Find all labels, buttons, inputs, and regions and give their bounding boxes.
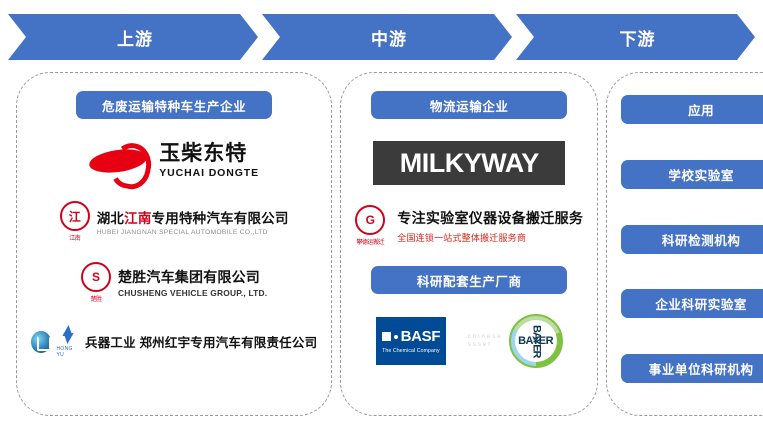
moving-service-emblem-icon: G bbox=[355, 205, 385, 235]
chusheng-emblem-icon: S bbox=[81, 262, 111, 292]
banner-segment-downstream[interactable]: 下游 bbox=[516, 14, 755, 60]
yuchai-name-cn: 玉柴东特 bbox=[159, 143, 259, 165]
hongyu-globe-icon bbox=[31, 331, 51, 353]
panels-container: 危废运输特种车生产企业 玉柴东特 YUCHAI DONGTE 江 江南 湖北江南… bbox=[16, 72, 747, 416]
logo-chusheng: S 楚胜 楚胜汽车集团有限公司 CHUSHENG VEHICLE GROUP.,… bbox=[81, 262, 267, 303]
value-chain-banner: 上游 中游 下游 bbox=[8, 14, 755, 60]
manufacturer-logos-row: BASF The Chemical Company chinese ssset … bbox=[376, 314, 563, 368]
basf-square-icon bbox=[382, 332, 391, 341]
bayer-wordmark-vertical: BAYER bbox=[531, 325, 540, 358]
banner-segment-upstream[interactable]: 上游 bbox=[8, 14, 258, 60]
banner-label-upstream: 上游 bbox=[117, 25, 153, 50]
pill-enterprise-research-laboratory[interactable]: 企业科研实验室 bbox=[621, 289, 763, 318]
bayer-cross-icon: BAYER BAYER bbox=[509, 314, 563, 368]
jiangnan-name-en: HUBEI JIANGNAN SPECIAL AUTOMOBILE CO.,LT… bbox=[97, 229, 289, 236]
pill-public-institution-research-organization[interactable]: 事业单位科研机构 bbox=[621, 354, 763, 383]
logo-bayer: chinese ssset BAYER BAYER bbox=[468, 314, 563, 368]
basf-wordmark: BASF bbox=[401, 328, 441, 345]
pill-research-testing-institution[interactable]: 科研检测机构 bbox=[621, 225, 763, 254]
panel-upstream: 危废运输特种车生产企业 玉柴东特 YUCHAI DONGTE 江 江南 湖北江南… bbox=[16, 72, 332, 416]
chusheng-name-cn: 楚胜汽车集团有限公司 bbox=[118, 267, 267, 287]
jiangnan-emblem-icon: 江 bbox=[60, 201, 90, 231]
yuchai-swirl-icon bbox=[89, 141, 151, 181]
pill-application[interactable]: 应用 bbox=[621, 95, 763, 124]
panel-downstream: 应用 学校实验室 科研检测机构 企业科研实验室 事业单位科研机构 bbox=[606, 72, 763, 416]
logo-yuchai-dongte: 玉柴东特 YUCHAI DONGTE bbox=[89, 141, 259, 181]
pill-logistics-companies[interactable]: 物流运输企业 bbox=[371, 91, 567, 119]
logo-lab-moving-service: G 攀德运搬迁 专注实验室仪器设备搬迁服务 全国连锁一站式整体搬迁服务商 bbox=[355, 205, 583, 246]
bayer-ghost-line-1: chinese bbox=[468, 334, 503, 340]
basf-dot-icon bbox=[394, 335, 398, 339]
yuchai-name-en: YUCHAI DONGTE bbox=[159, 167, 259, 179]
jiangnan-name-cn: 湖北江南专用特种汽车有限公司 bbox=[97, 207, 289, 227]
banner-label-midstream: 中游 bbox=[371, 25, 407, 50]
downstream-pill-stack: 应用 学校实验室 科研检测机构 企业科研实验室 事业单位科研机构 bbox=[621, 91, 763, 405]
banner-label-downstream: 下游 bbox=[620, 25, 656, 50]
basf-tagline: The Chemical Company bbox=[382, 348, 440, 354]
hongyu-bolt-icon bbox=[58, 325, 78, 345]
moving-service-subtitle: 全国连锁一站式整体搬迁服务商 bbox=[397, 231, 583, 244]
milkyway-wordmark: MILKYWAY bbox=[400, 148, 539, 179]
pill-research-supply-manufacturers[interactable]: 科研配套生产厂商 bbox=[371, 266, 567, 294]
hongyu-mark-caption: HONG YU bbox=[57, 346, 79, 358]
logo-hubei-jiangnan: 江 江南 湖北江南专用特种汽车有限公司 HUBEI JIANGNAN SPECI… bbox=[60, 201, 289, 242]
pill-hazardous-waste-vehicle-makers[interactable]: 危废运输特种车生产企业 bbox=[76, 91, 272, 119]
bayer-ghost-text: chinese ssset bbox=[468, 334, 503, 348]
logo-zhengzhou-hongyu: HONG YU 兵器工业 郑州红宇专用汽车有限责任公司 bbox=[31, 325, 317, 358]
moving-service-emblem-caption: 攀德运搬迁 bbox=[357, 237, 385, 246]
panel-midstream: 物流运输企业 MILKYWAY G 攀德运搬迁 专注实验室仪器设备搬迁服务 全国… bbox=[340, 72, 598, 416]
logo-basf: BASF The Chemical Company bbox=[376, 317, 446, 365]
bayer-ghost-line-2: ssset bbox=[468, 342, 503, 348]
jiangnan-emblem-caption: 江南 bbox=[69, 233, 80, 242]
banner-segment-midstream[interactable]: 中游 bbox=[262, 14, 512, 60]
hongyu-name-cn: 兵器工业 郑州红宇专用汽车有限责任公司 bbox=[85, 332, 317, 351]
logo-milkyway: MILKYWAY bbox=[373, 141, 565, 185]
pill-school-laboratory[interactable]: 学校实验室 bbox=[621, 160, 763, 189]
chusheng-emblem-caption: 楚胜 bbox=[90, 294, 101, 303]
chusheng-name-en: CHUSHENG VEHICLE GROUP., LTD. bbox=[118, 288, 267, 298]
moving-service-title: 专注实验室仪器设备搬迁服务 bbox=[397, 208, 583, 228]
